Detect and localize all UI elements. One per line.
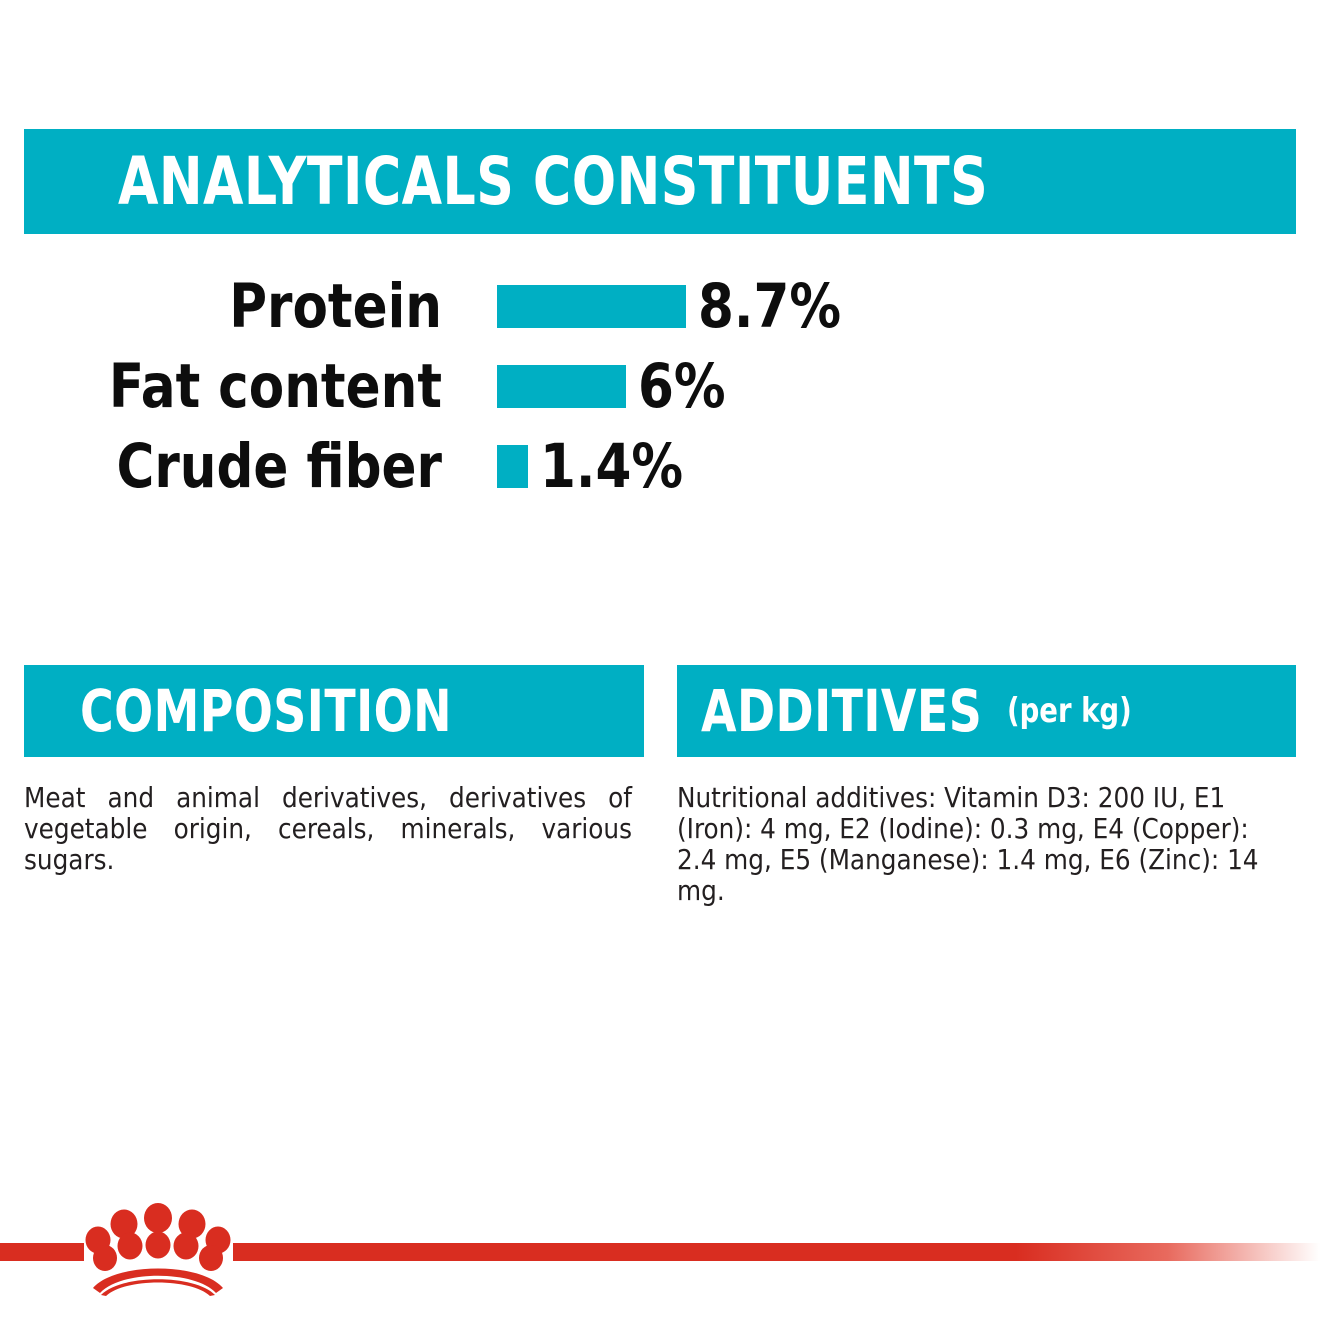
nutrient-bar-protein xyxy=(497,285,686,328)
composition-text: Meat and animal derivatives, derivatives… xyxy=(24,783,632,876)
nutrient-bar-crude-fiber xyxy=(497,445,528,488)
additives-title: ADDITIVES xyxy=(701,682,982,740)
footer-stripe-right xyxy=(233,1243,1320,1261)
analyticals-constituents-title: ANALYTICALS CONSTITUENTS xyxy=(118,149,988,215)
composition-banner: COMPOSITION xyxy=(24,665,644,757)
additives-banner: ADDITIVES (per kg) xyxy=(677,665,1296,757)
additives-text: Nutritional additives: Vitamin D3: 200 I… xyxy=(677,783,1292,907)
nutrient-label-protein: Protein xyxy=(27,276,442,337)
analyticals-chart: Protein 8.7% Fat content 6% Crude fiber … xyxy=(0,266,1320,506)
nutrient-label-crude-fiber: Crude fiber xyxy=(27,436,442,497)
footer-stripe-left xyxy=(0,1243,84,1261)
nutrient-row: Protein 8.7% xyxy=(0,266,1320,346)
nutrient-label-fat-content: Fat content xyxy=(27,356,442,417)
royal-canin-crown-icon xyxy=(85,1196,231,1296)
product-nutrition-panel: ANALYTICALS CONSTITUENTS Protein 8.7% Fa… xyxy=(0,0,1320,1320)
additives-subtitle: (per kg) xyxy=(1007,691,1132,731)
nutrient-value-fat-content: 6% xyxy=(638,356,726,417)
nutrient-row: Crude fiber 1.4% xyxy=(0,426,1320,506)
analyticals-constituents-banner: ANALYTICALS CONSTITUENTS xyxy=(24,129,1296,234)
footer xyxy=(0,1196,1320,1320)
nutrient-bar-fat-content xyxy=(497,365,626,408)
nutrient-value-crude-fiber: 1.4% xyxy=(540,436,683,497)
nutrient-row: Fat content 6% xyxy=(0,346,1320,426)
nutrient-value-protein: 8.7% xyxy=(698,276,841,337)
composition-title: COMPOSITION xyxy=(80,682,452,740)
